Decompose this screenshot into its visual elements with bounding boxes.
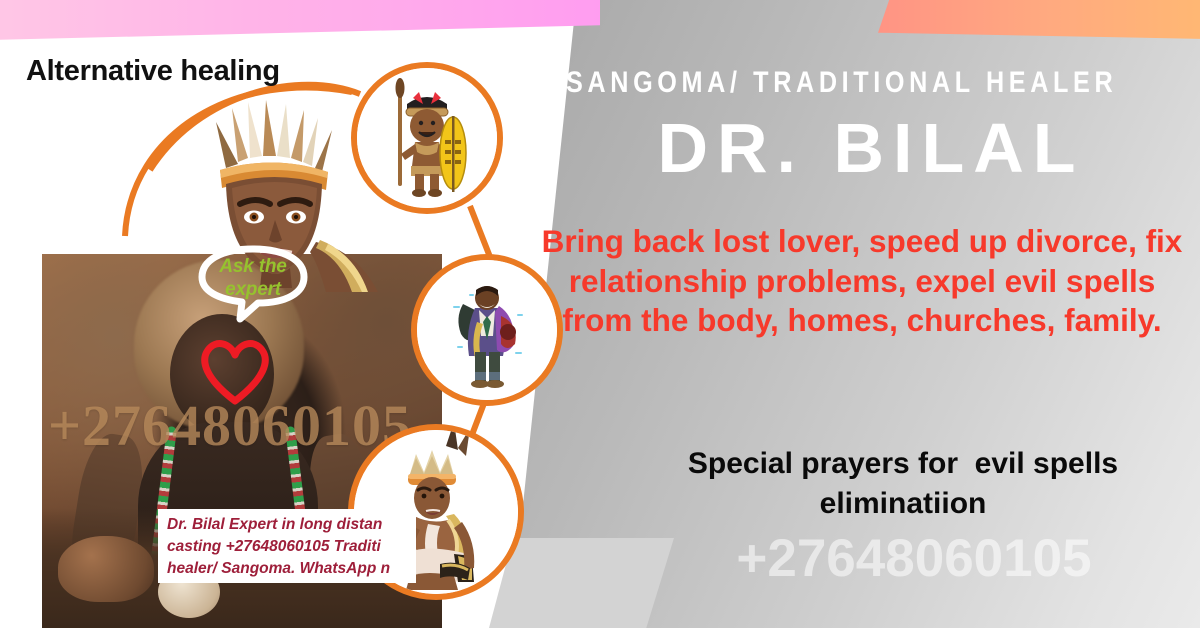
heart-icon	[196, 335, 274, 405]
orange-accent-band	[878, 0, 1200, 39]
contact-phone-watermark: +27648060105	[640, 528, 1188, 589]
special-prayers-text: Special prayers for evil spells eliminat…	[618, 444, 1188, 523]
services-text: Bring back lost lover, speed up divorce,…	[538, 222, 1186, 341]
caption-line-1: Dr. Bilal Expert in long distan	[167, 514, 408, 536]
caption-line-3: healer/ Sangoma. WhatsApp n	[167, 558, 408, 580]
circle-zulu-warrior-cartoon	[351, 62, 503, 214]
pink-accent-band	[0, 0, 600, 40]
kicker-subtitle: SANGOMA/ TRADITIONAL HEALER	[566, 66, 1078, 100]
photo-caption-box: Dr. Bilal Expert in long distan casting …	[158, 509, 416, 583]
bubble-line-1: Ask the	[219, 256, 286, 277]
healer-name-title: DR. BILAL	[566, 108, 1176, 188]
bubble-line-2: expert	[225, 279, 281, 300]
ask-the-expert-bubble: Ask the expert	[192, 245, 314, 323]
poster-canvas: Ask the expert +27648060105 Dr. Bilal Ex…	[0, 0, 1200, 628]
caption-line-2: casting +27648060105 Traditi	[167, 536, 408, 558]
page-title: Alternative healing	[26, 55, 280, 88]
